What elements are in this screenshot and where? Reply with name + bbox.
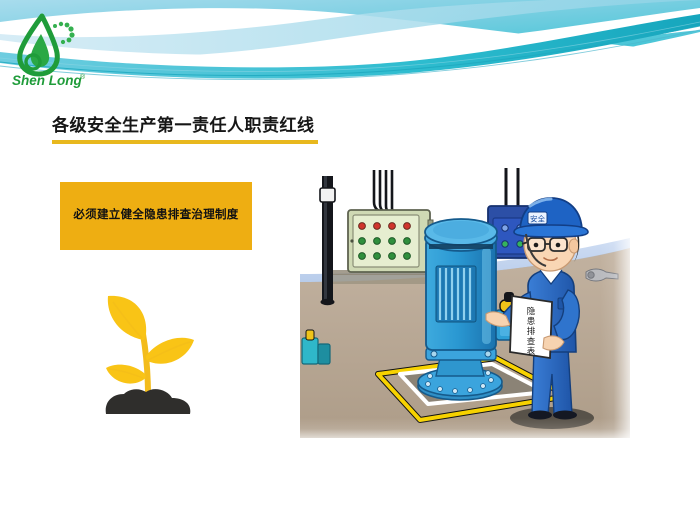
checklist-char-1: 隐 <box>527 306 536 316</box>
safety-inspection-illustration: 安全 隐 患 排 查 表 <box>300 162 630 438</box>
callout-text: 必须建立健全隐患排查治理制度 <box>73 207 238 225</box>
checklist-char-5: 表 <box>527 346 536 356</box>
page-title-text: 各级安全生产第一责任人职责红线 <box>52 115 342 136</box>
checklist-char-4: 查 <box>527 336 536 346</box>
sprout-graphic <box>88 278 208 418</box>
slide-root: Shen Long ® 各级安全生产第一责任人职责红线 必须建立健全隐患排查治理… <box>0 0 700 525</box>
page-title: 各级安全生产第一责任人职责红线 <box>52 115 342 144</box>
logo-brand-text: Shen Long <box>12 73 82 88</box>
logo-droplet-icon: Shen Long ® <box>8 12 94 88</box>
illustration-scene: 安全 隐 患 排 查 表 <box>300 162 630 438</box>
checklist-char-2: 患 <box>527 316 536 326</box>
helmet-badge-text: 安全 <box>530 214 545 224</box>
checklist-char-3: 排 <box>527 326 536 336</box>
logo-registered-mark: ® <box>80 73 86 81</box>
shen-long-logo: Shen Long ® <box>8 12 94 88</box>
header-banner: Shen Long ® <box>0 0 700 100</box>
sprout-icon <box>88 278 208 418</box>
pipe-column <box>320 176 335 305</box>
callout-box: 必须建立健全隐患排查治理制度 <box>60 182 252 250</box>
header-wave-graphic <box>0 0 700 100</box>
title-underline <box>52 140 318 144</box>
